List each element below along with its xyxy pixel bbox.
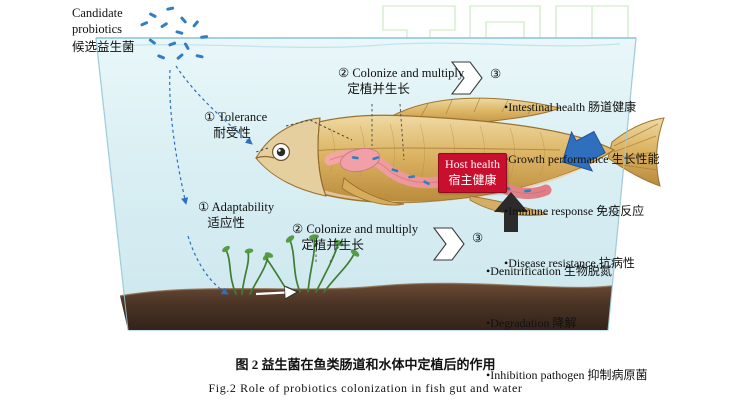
figure-caption-en: Fig.2 Role of probiotics colonization in… xyxy=(0,381,731,396)
colonize-multiply-top-label: ② Colonize and multiply 定植并生长 xyxy=(338,66,464,97)
step3-bottom-marker: ③ xyxy=(472,230,483,246)
candidate-probiotics-label-en: Candidate probiotics xyxy=(72,6,123,37)
figure-caption-zh: 图 2 益生菌在鱼类肠道和水体中定植后的作用 xyxy=(0,354,731,373)
effect-gut-item: •Immune response 免疫反应 xyxy=(504,203,660,220)
figure-container: Candidate probiotics 候选益生菌 ① Tolerance 耐… xyxy=(0,0,731,415)
step3-top-marker: ③ xyxy=(490,66,501,82)
candidate-probiotics-label-zh: 候选益生菌 xyxy=(72,40,135,56)
effect-water-item: •Denitrification 生物脱氮 xyxy=(486,263,648,280)
colonize-multiply-bottom-label: ② Colonize and multiply 定植并生长 xyxy=(292,222,418,253)
effect-gut-item: •Growth performance 生长性能 xyxy=(504,151,660,168)
tolerance-label: ① Tolerance 耐受性 xyxy=(204,110,267,141)
effect-water-item: •Degradation 降解 xyxy=(486,315,648,332)
host-health-box: Host health 宿主健康 xyxy=(438,153,507,193)
effect-gut-item: •Intestinal health 肠道健康 xyxy=(504,99,660,116)
adaptability-label: ① Adaptability 适应性 xyxy=(198,200,274,231)
